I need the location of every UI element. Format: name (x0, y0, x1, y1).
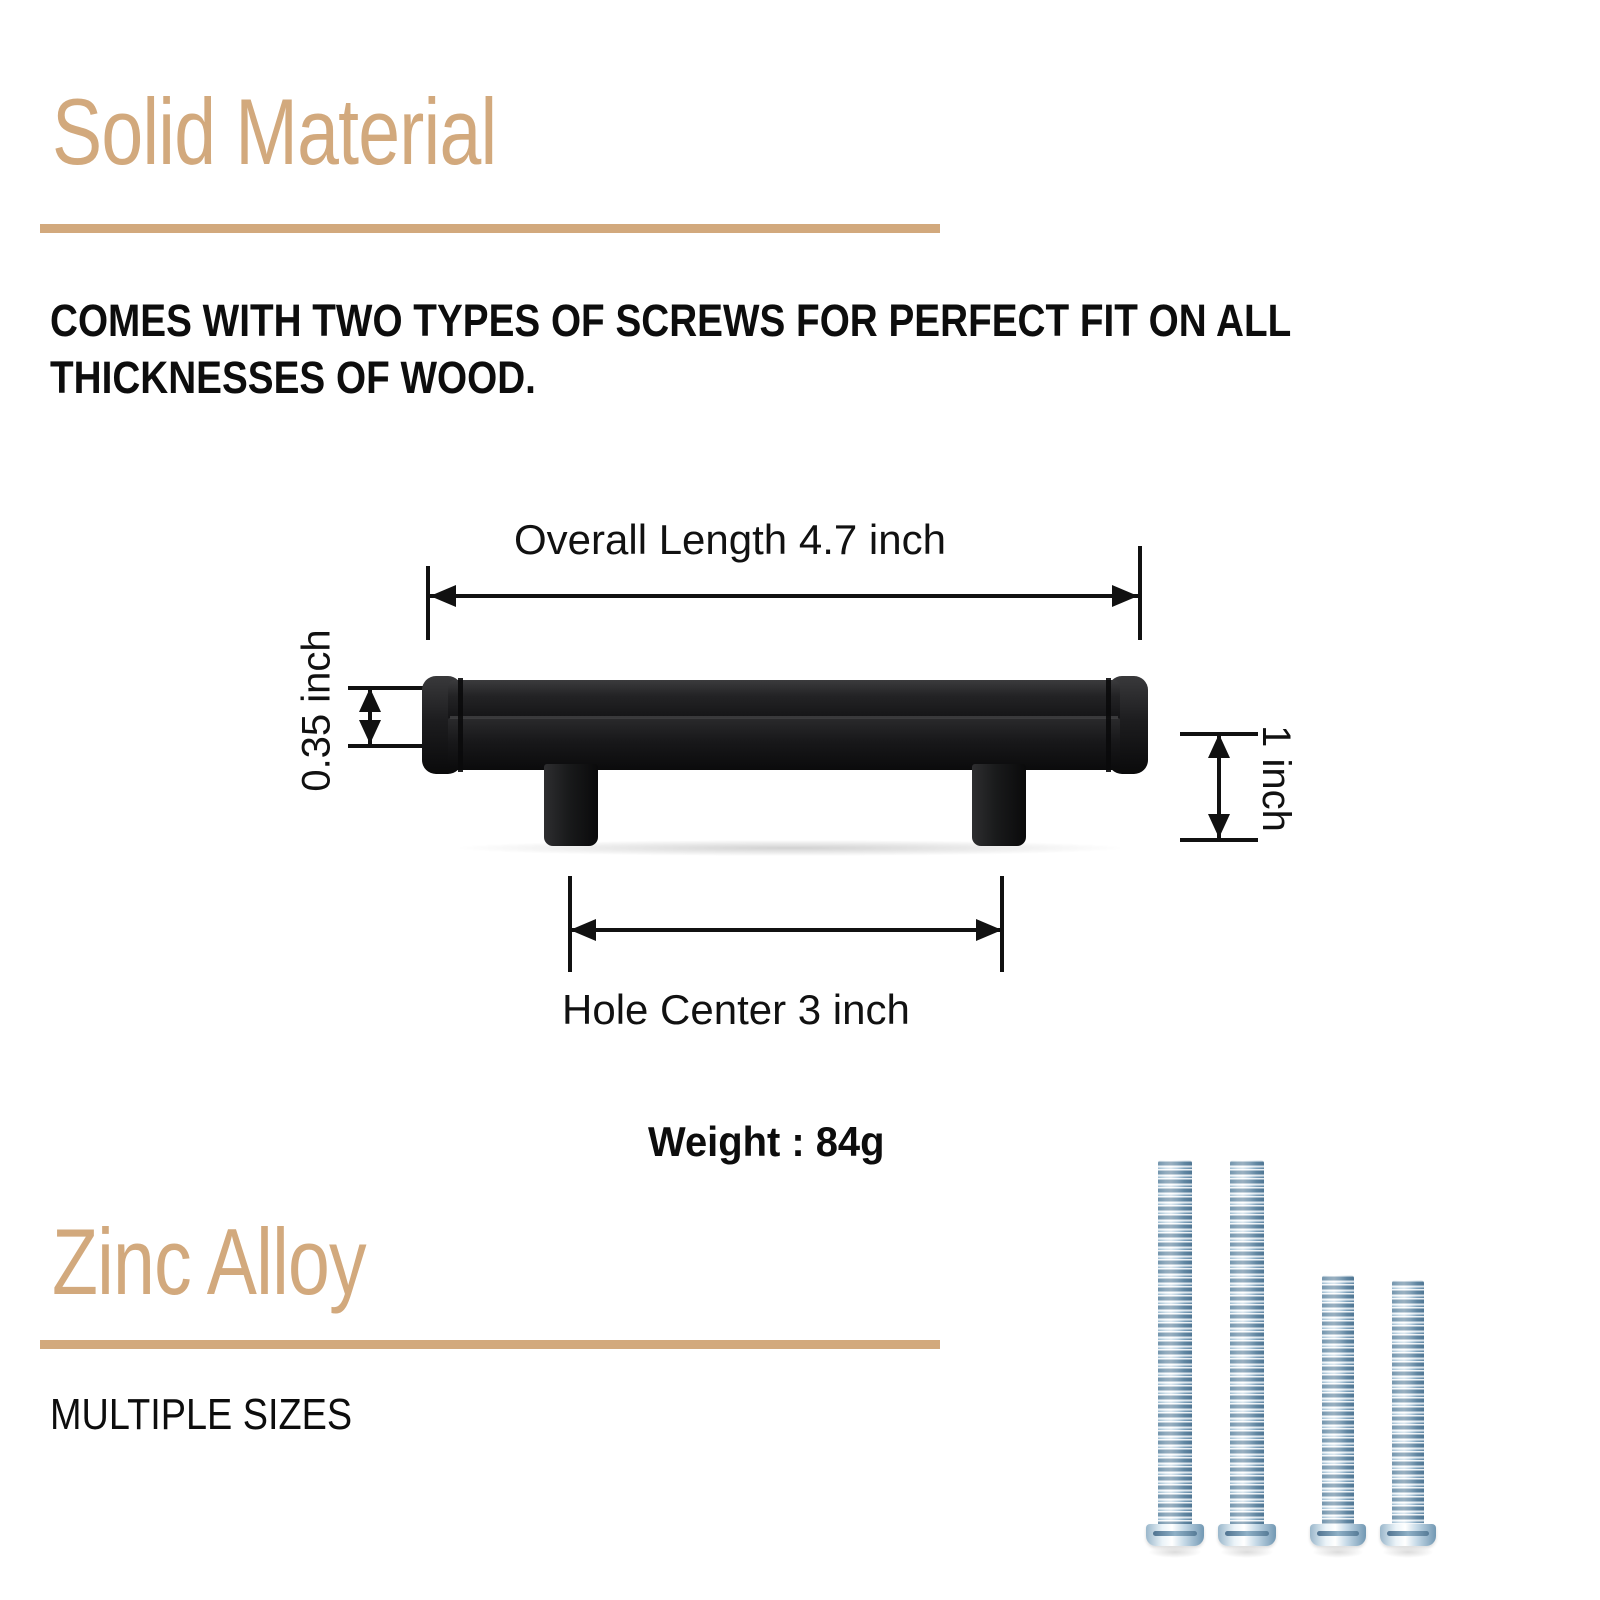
screw-head (1218, 1524, 1276, 1546)
screw-shadow (1382, 1546, 1434, 1558)
screw-head-slot (1225, 1531, 1269, 1536)
cabinet-pull-handle-image (420, 672, 1150, 852)
screws-image-group (1130, 1140, 1470, 1560)
heading-divider-bottom (40, 1340, 940, 1349)
arrow-projection-up (1208, 734, 1230, 758)
handle-post-right (972, 764, 1026, 846)
screw-shank (1322, 1275, 1354, 1528)
handle-bar-front-face (448, 718, 1120, 770)
solid-material-body-text: COMES WITH TWO TYPES OF SCREWS FOR PERFE… (50, 292, 1512, 406)
arrow-hole-right (976, 919, 1002, 941)
dimension-line-hole-center (570, 928, 1002, 932)
extension-line-overall-right (1138, 546, 1142, 640)
weight-label: Weight : 84g (648, 1118, 884, 1166)
screw-long-1 (1158, 1160, 1192, 1550)
screw-head-slot (1317, 1531, 1360, 1536)
handle-cap-seam-left (458, 678, 463, 772)
screw-shank (1230, 1160, 1264, 1528)
screw-shank (1158, 1160, 1192, 1528)
projection-label: 1 inch (1253, 725, 1298, 832)
arrow-thickness-down (359, 720, 381, 744)
thickness-label: 0.35 inch (295, 629, 340, 791)
arrow-hole-left (570, 919, 596, 941)
screw-short-2 (1392, 1280, 1424, 1550)
handle-bar-bevel-seam (450, 716, 1118, 719)
arrow-overall-right (1112, 585, 1138, 607)
screw-shadow (1312, 1546, 1364, 1558)
arrow-thickness-up (359, 688, 381, 712)
hole-center-label: Hole Center 3 inch (562, 986, 910, 1034)
dimension-line-overall (430, 594, 1138, 598)
screw-shadow (1220, 1546, 1274, 1558)
tick-projection-bottom (1180, 838, 1258, 842)
handle-cap-seam-right (1106, 678, 1111, 772)
screw-shadow (1148, 1546, 1202, 1558)
screw-head (1380, 1524, 1436, 1546)
screw-head (1310, 1524, 1366, 1546)
screw-head-slot (1153, 1531, 1197, 1536)
handle-post-left (544, 764, 598, 846)
screw-head-slot (1387, 1531, 1430, 1536)
overall-length-label: Overall Length 4.7 inch (514, 516, 946, 564)
screw-long-2 (1230, 1160, 1264, 1550)
screw-short-1 (1322, 1275, 1354, 1550)
screw-head (1146, 1524, 1204, 1546)
tick-thickness-bottom (348, 744, 426, 748)
handle-bar-top-face (448, 680, 1120, 720)
screw-shank (1392, 1280, 1424, 1528)
heading-divider-top (40, 224, 940, 233)
solid-material-heading: Solid Material (52, 78, 496, 186)
infographic-page: Solid Material COMES WITH TWO TYPES OF S… (0, 0, 1600, 1600)
arrow-overall-left (430, 585, 456, 607)
zinc-alloy-heading: Zinc Alloy (52, 1208, 366, 1316)
arrow-projection-down (1208, 814, 1230, 838)
